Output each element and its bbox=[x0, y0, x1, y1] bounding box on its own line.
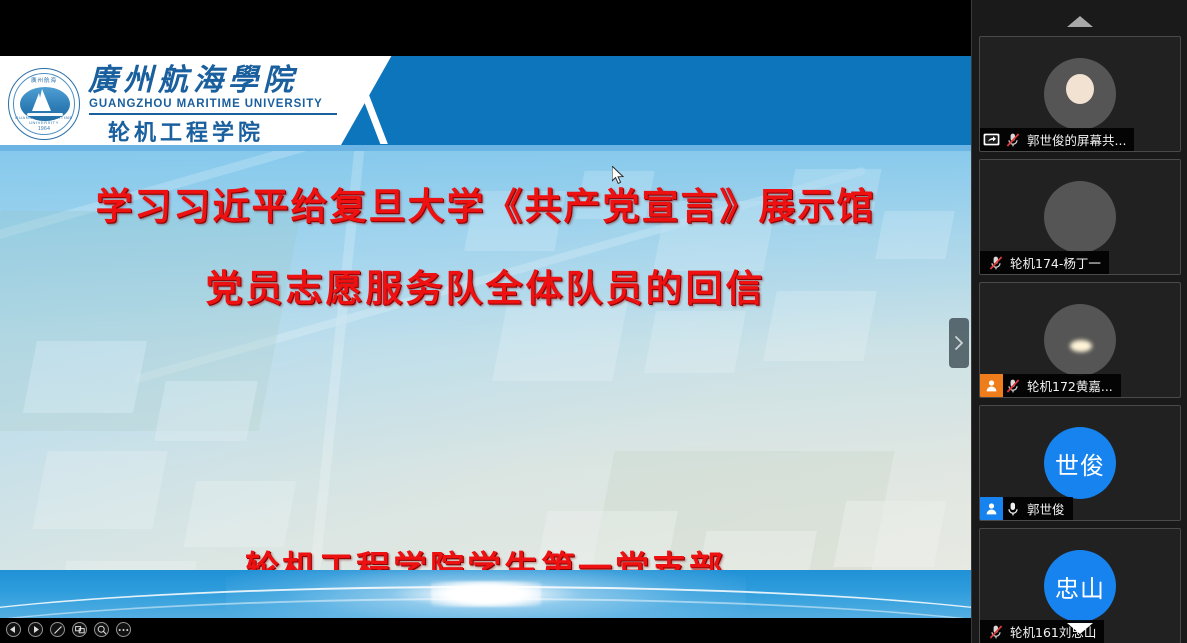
participant-name: 郭世俊 bbox=[1023, 499, 1065, 518]
screen-share-icon bbox=[980, 128, 1003, 151]
chevron-right-icon bbox=[954, 335, 964, 351]
avatar bbox=[1044, 181, 1116, 253]
seal-bottom-text: GUANGZHOU MARITIME UNIVERSITY bbox=[9, 115, 79, 125]
participant-nameplate: 郭世俊 bbox=[980, 497, 1073, 520]
slide-title-line-1: 学习习近平给复旦大学《共产党宣言》展示馆 bbox=[0, 165, 971, 247]
participant-tile[interactable]: 郭世俊的屏幕共... bbox=[979, 36, 1181, 152]
scroll-down-button[interactable] bbox=[972, 615, 1187, 641]
pen-annotation-button[interactable] bbox=[50, 622, 65, 637]
more-options-button[interactable] bbox=[116, 622, 131, 637]
zoom-slide-button[interactable] bbox=[94, 622, 109, 637]
slide-title-block: 学习习近平给复旦大学《共产党宣言》展示馆 党员志愿服务队全体队员的回信 bbox=[0, 165, 971, 329]
participant-name: 轮机172黄嘉... bbox=[1023, 376, 1113, 395]
university-name-en: GUANGZHOU MARITIME UNIVERSITY bbox=[89, 98, 323, 110]
participant-tile[interactable]: 轮机172黄嘉... bbox=[979, 282, 1181, 398]
mic-unmuted-icon bbox=[1003, 501, 1023, 517]
university-logo-block: 廣州航海 1964 GUANGZHOU MARITIME UNIVERSITY … bbox=[4, 62, 354, 144]
scroll-up-button[interactable] bbox=[972, 8, 1187, 34]
participant-name: 轮机174-杨丁一 bbox=[1006, 253, 1101, 272]
triangle-up-icon bbox=[1067, 16, 1093, 27]
avatar bbox=[1044, 304, 1116, 376]
participant-nameplate: 轮机172黄嘉... bbox=[980, 374, 1121, 397]
slide-masthead: 廣州航海 1964 GUANGZHOU MARITIME UNIVERSITY … bbox=[0, 56, 971, 145]
participant-tile[interactable]: 世俊 郭世俊 bbox=[979, 405, 1181, 521]
participant-tile[interactable]: 轮机174-杨丁一 bbox=[979, 159, 1181, 275]
masthead-blue-band bbox=[341, 56, 971, 145]
presenter-toolbar[interactable] bbox=[6, 622, 131, 637]
university-name-cn: 廣州航海學院 bbox=[88, 64, 298, 98]
previous-slide-button[interactable] bbox=[6, 622, 21, 637]
shared-screen-view[interactable]: 廣州航海 1964 GUANGZHOU MARITIME UNIVERSITY … bbox=[0, 0, 971, 643]
all-slides-button[interactable] bbox=[72, 622, 87, 637]
participant-name: 郭世俊的屏幕共... bbox=[1023, 130, 1126, 149]
mic-muted-icon bbox=[986, 255, 1006, 271]
university-seal-icon: 廣州航海 1964 GUANGZHOU MARITIME UNIVERSITY bbox=[8, 68, 80, 140]
participant-role-icon bbox=[980, 497, 1003, 520]
department-name-cn: 轮机工程学院 bbox=[108, 115, 264, 147]
avatar bbox=[1044, 58, 1116, 130]
next-slide-button[interactable] bbox=[28, 622, 43, 637]
mouse-cursor bbox=[612, 166, 626, 191]
slide-title-line-2: 党员志愿服务队全体队员的回信 bbox=[0, 247, 971, 329]
avatar: 忠山 bbox=[1044, 550, 1116, 622]
presentation-slide[interactable]: 廣州航海 1964 GUANGZHOU MARITIME UNIVERSITY … bbox=[0, 56, 971, 618]
participant-role-icon bbox=[980, 374, 1003, 397]
avatar: 世俊 bbox=[1044, 427, 1116, 499]
mic-muted-icon bbox=[1003, 132, 1023, 148]
slide-body: 学习习近平给复旦大学《共产党宣言》展示馆 党员志愿服务队全体队员的回信 轮机工程… bbox=[0, 151, 971, 618]
seal-year: 1964 bbox=[9, 126, 79, 132]
slide-footer-band bbox=[0, 570, 971, 618]
participant-nameplate: 轮机174-杨丁一 bbox=[980, 251, 1109, 274]
collapse-panel-button[interactable] bbox=[949, 318, 969, 368]
triangle-down-icon bbox=[1067, 623, 1093, 634]
participant-thumbnail-strip[interactable]: 郭世俊的屏幕共... 轮机174-杨丁一 bbox=[971, 0, 1187, 643]
mic-muted-icon bbox=[1003, 378, 1023, 394]
seal-top-text: 廣州航海 bbox=[9, 76, 79, 84]
meeting-window: 廣州航海 1964 GUANGZHOU MARITIME UNIVERSITY … bbox=[0, 0, 1187, 643]
participant-nameplate: 郭世俊的屏幕共... bbox=[980, 128, 1134, 151]
masthead-slash-accent bbox=[352, 64, 412, 144]
